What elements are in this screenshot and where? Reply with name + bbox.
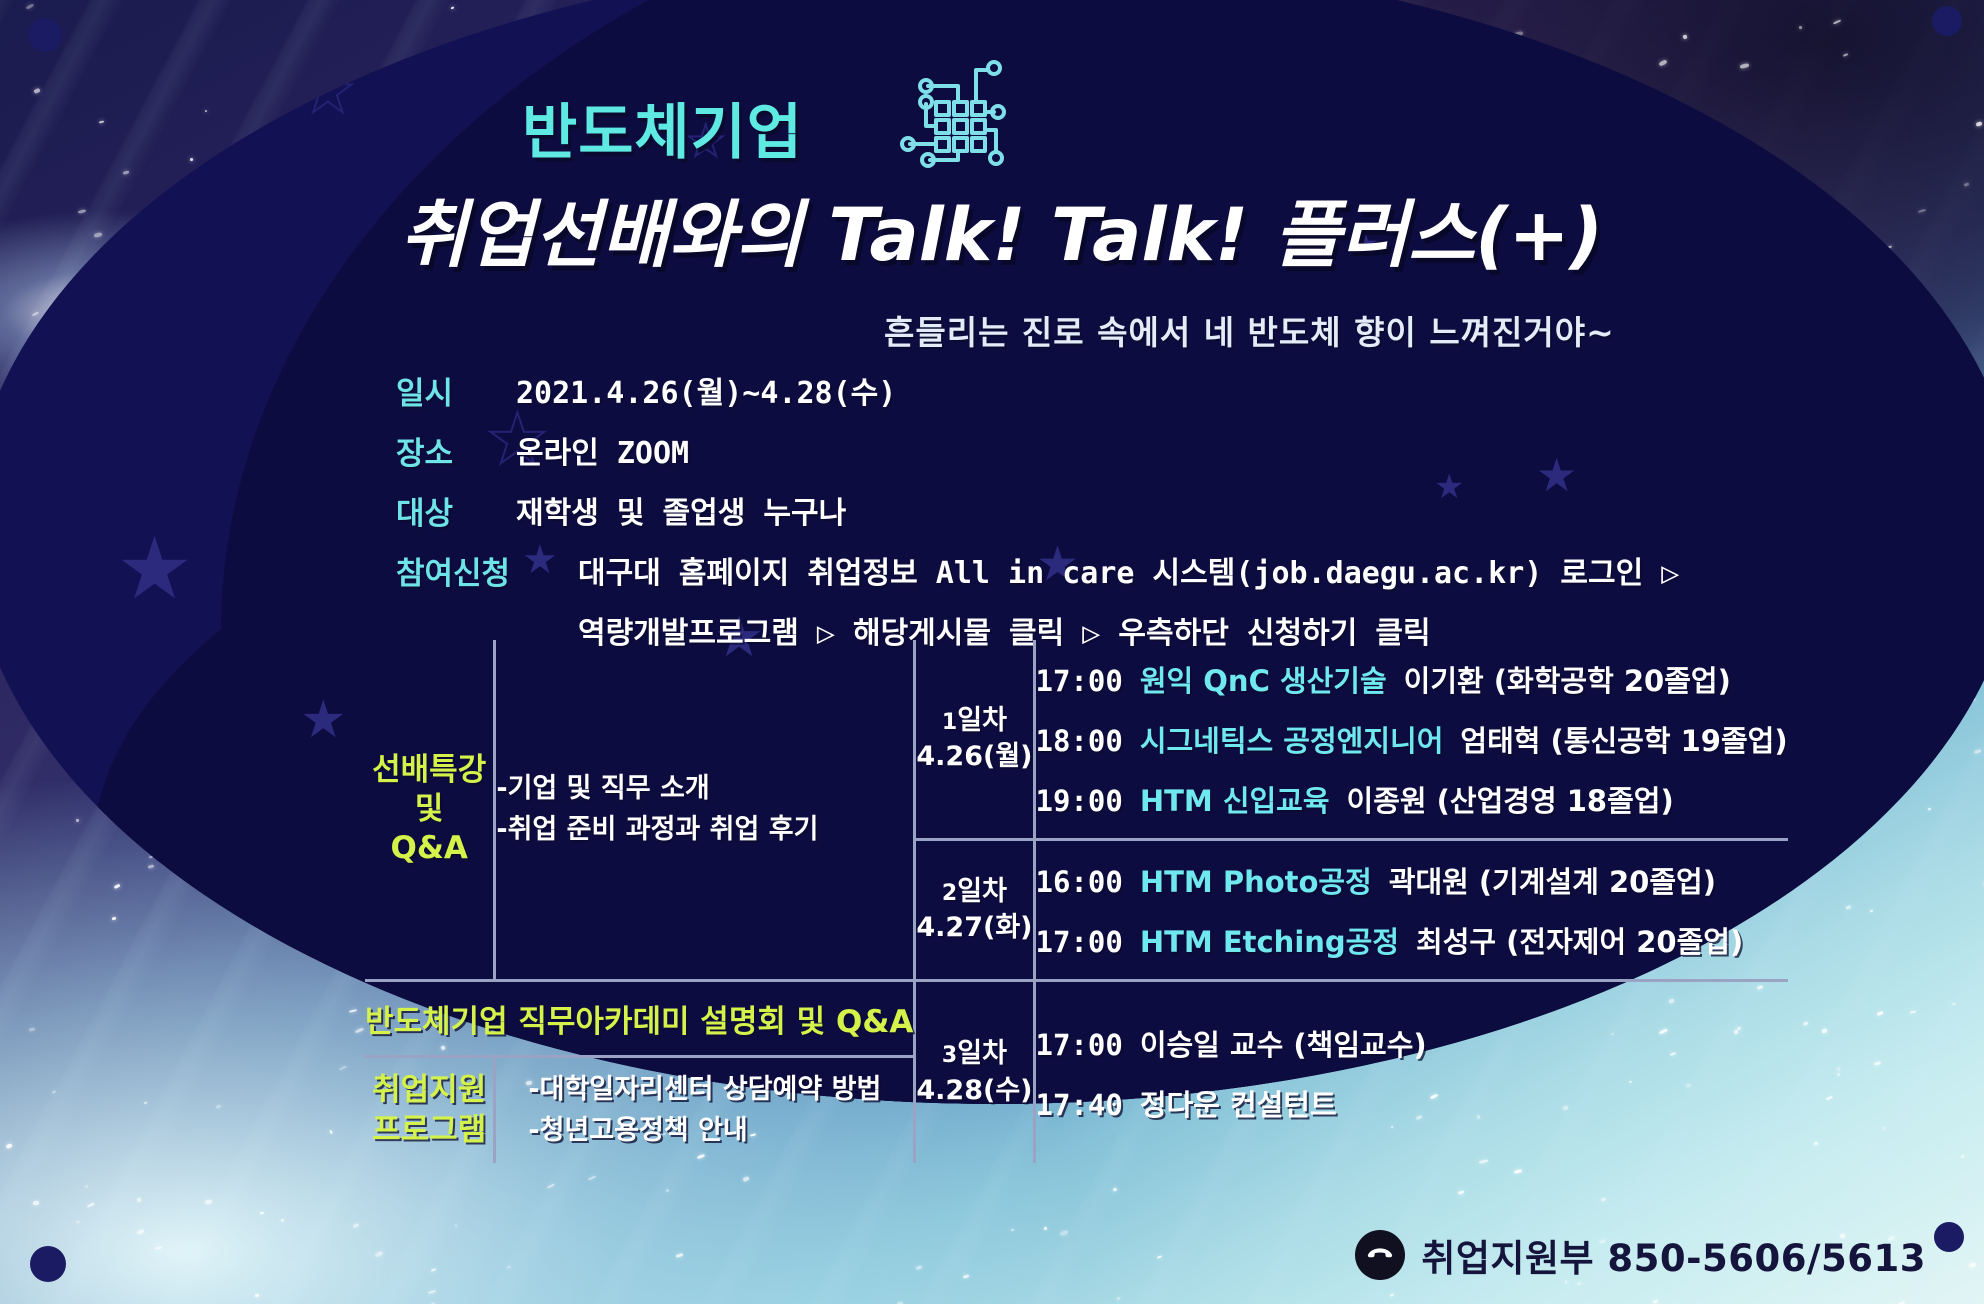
info-row-audience: 대상 재학생 및 졸업생 누구나 xyxy=(396,488,1679,533)
info-value-audience: 재학생 및 졸업생 누구나 xyxy=(516,488,846,532)
info-label-place: 장소 xyxy=(396,428,516,473)
category-line-2: 및 xyxy=(365,790,493,829)
session-row: 16:00 HTM Photo공정 곽대원 (기계설계 20졸업) xyxy=(1036,859,1788,901)
info-label-date: 일시 xyxy=(396,368,516,413)
academy-title-cell: 반도체기업 직무아카데미 설명회 및 Q&A xyxy=(365,981,915,1057)
session-time: 17:00 xyxy=(1036,664,1123,698)
description-cell-job-support: -대학일자리센터 상담예약 방법 -청년고용정책 안내 xyxy=(495,1057,915,1164)
session-person: 최성구 (전자제어 20졸업) xyxy=(1416,919,1743,961)
category-line-3: Q&A xyxy=(365,829,493,868)
info-value-place: 온라인 ZOOM xyxy=(516,428,689,472)
day-cell-3: 3일차 4.28(수) xyxy=(915,981,1034,1164)
decor-dot-bottom-left xyxy=(30,1246,66,1282)
poster-tagline: 흔들리는 진로 속에서 네 반도체 향이 느껴진거야~ xyxy=(884,306,1615,354)
category-js-line-1: 취업지원 xyxy=(365,1071,493,1110)
session-person: 곽대원 (기계설계 20졸업) xyxy=(1389,859,1716,901)
schedule-table: 선배특강 및 Q&A -기업 및 직무 소개 -취업 준비 과정과 취업 후기 … xyxy=(365,640,1788,1163)
session-row: 18:00 시그네틱스 공정엔지니어 엄태혁 (통신공학 19졸업) xyxy=(1036,718,1788,760)
decor-dot-top-left xyxy=(28,18,62,52)
session-person: 이승일 교수 (책임교수) xyxy=(1140,1022,1427,1064)
poster-kicker: 반도체기업 xyxy=(522,84,803,171)
description-js-line-1: -대학일자리센터 상담예약 방법 xyxy=(528,1070,913,1111)
session-person: 엄태혁 (통신공학 19졸업) xyxy=(1460,718,1787,760)
session-person: 이종원 (산업경영 18졸업) xyxy=(1347,778,1674,820)
phone-icon xyxy=(1355,1230,1405,1280)
session-time: 17:00 xyxy=(1036,1028,1123,1062)
session-time: 16:00 xyxy=(1036,865,1123,899)
session-row: 17:00 HTM Etching공정 최성구 (전자제어 20졸업) xyxy=(1036,919,1788,961)
description-line-2: -취업 준비 과정과 취업 후기 xyxy=(496,810,913,851)
poster-main-title: 취업선배와의 Talk! Talk! 플러스(+) xyxy=(400,176,1603,282)
day-number-2: 2일차 xyxy=(916,874,1032,910)
day-date-1: 4.26(월) xyxy=(916,739,1032,775)
sessions-cell-day-3: 17:00 이승일 교수 (책임교수) 17:40 정다운 컨설턴트 xyxy=(1034,981,1788,1164)
sessions-cell-day-1: 17:00 원익 QnC 생산기술 이기환 (화학공학 20졸업) 18:00 … xyxy=(1034,640,1788,840)
table-row: 반도체기업 직무아카데미 설명회 및 Q&A 3일차 4.28(수) 17:00… xyxy=(365,981,1788,1057)
footer-contact: 취업지원부 850-5606/5613 xyxy=(1355,1228,1926,1282)
category-line-1: 선배특강 xyxy=(365,751,493,790)
session-org: HTM 신입교육 xyxy=(1140,778,1330,820)
day-cell-2: 2일차 4.27(화) xyxy=(915,840,1034,981)
session-time: 18:00 xyxy=(1036,724,1123,758)
session-person: 정다운 컨설턴트 xyxy=(1140,1082,1337,1124)
category-js-line-2: 프로그램 xyxy=(365,1111,493,1150)
session-org: 원익 QnC 생산기술 xyxy=(1140,658,1387,700)
session-time: 17:40 xyxy=(1036,1088,1123,1122)
session-row: 19:00 HTM 신입교육 이종원 (산업경영 18졸업) xyxy=(1036,778,1788,820)
decor-star: ★ xyxy=(300,694,347,746)
description-line-1: -기업 및 직무 소개 xyxy=(496,769,913,810)
poster-canvas: ★ ★ ★ ★ ★ ★ ★ ★ ★ ★ ★ 반도체기업 xyxy=(0,0,1984,1304)
session-time: 17:00 xyxy=(1036,925,1123,959)
decor-star: ★ xyxy=(116,526,193,612)
day-date-3: 4.28(수) xyxy=(916,1073,1032,1109)
category-cell-senior-talk: 선배특강 및 Q&A xyxy=(365,640,495,981)
info-label-apply: 참여신청 xyxy=(396,548,578,593)
circuit-chip-icon xyxy=(884,56,1014,184)
info-value-apply: 대구대 홈페이지 취업정보 All in care 시스템(job.daegu.… xyxy=(578,548,1679,592)
sessions-cell-day-2: 16:00 HTM Photo공정 곽대원 (기계설계 20졸업) 17:00 … xyxy=(1034,840,1788,981)
session-org: HTM Etching공정 xyxy=(1140,919,1399,961)
day-cell-1: 1일차 4.26(월) xyxy=(915,640,1034,840)
category-cell-job-support: 취업지원 프로그램 xyxy=(365,1057,495,1164)
table-row: 선배특강 및 Q&A -기업 및 직무 소개 -취업 준비 과정과 취업 후기 … xyxy=(365,640,1788,840)
session-org: 시그네틱스 공정엔지니어 xyxy=(1140,718,1444,760)
description-js-line-2: -청년고용정책 안내 xyxy=(528,1111,913,1152)
session-person: 이기환 (화학공학 20졸업) xyxy=(1404,658,1731,700)
session-time: 19:00 xyxy=(1036,784,1123,818)
day-number-1: 1일차 xyxy=(916,703,1032,739)
info-value-date: 2021.4.26(월)~4.28(수) xyxy=(516,368,896,412)
session-org: HTM Photo공정 xyxy=(1140,859,1372,901)
session-row: 17:40 정다운 컨설턴트 xyxy=(1036,1082,1788,1124)
footer-contact-text: 취업지원부 850-5606/5613 xyxy=(1421,1228,1926,1282)
info-row-apply: 참여신청 대구대 홈페이지 취업정보 All in care 시스템(job.d… xyxy=(396,548,1679,593)
decor-dot-bottom-right xyxy=(1934,1222,1964,1252)
day-date-2: 4.27(화) xyxy=(916,910,1032,946)
decor-dot-top-right xyxy=(1932,6,1962,36)
description-cell-senior-talk: -기업 및 직무 소개 -취업 준비 과정과 취업 후기 xyxy=(495,640,915,981)
info-row-date: 일시 2021.4.26(월)~4.28(수) xyxy=(396,368,1679,413)
info-row-place: 장소 온라인 ZOOM xyxy=(396,428,1679,473)
session-row: 17:00 이승일 교수 (책임교수) xyxy=(1036,1022,1788,1064)
decor-star-outline: ★ xyxy=(300,60,356,122)
day-number-3: 3일차 xyxy=(916,1036,1032,1072)
session-row: 17:00 원익 QnC 생산기술 이기환 (화학공학 20졸업) xyxy=(1036,658,1788,700)
event-info-block: 일시 2021.4.26(월)~4.28(수) 장소 온라인 ZOOM 대상 재… xyxy=(396,368,1679,652)
info-label-audience: 대상 xyxy=(396,488,516,533)
